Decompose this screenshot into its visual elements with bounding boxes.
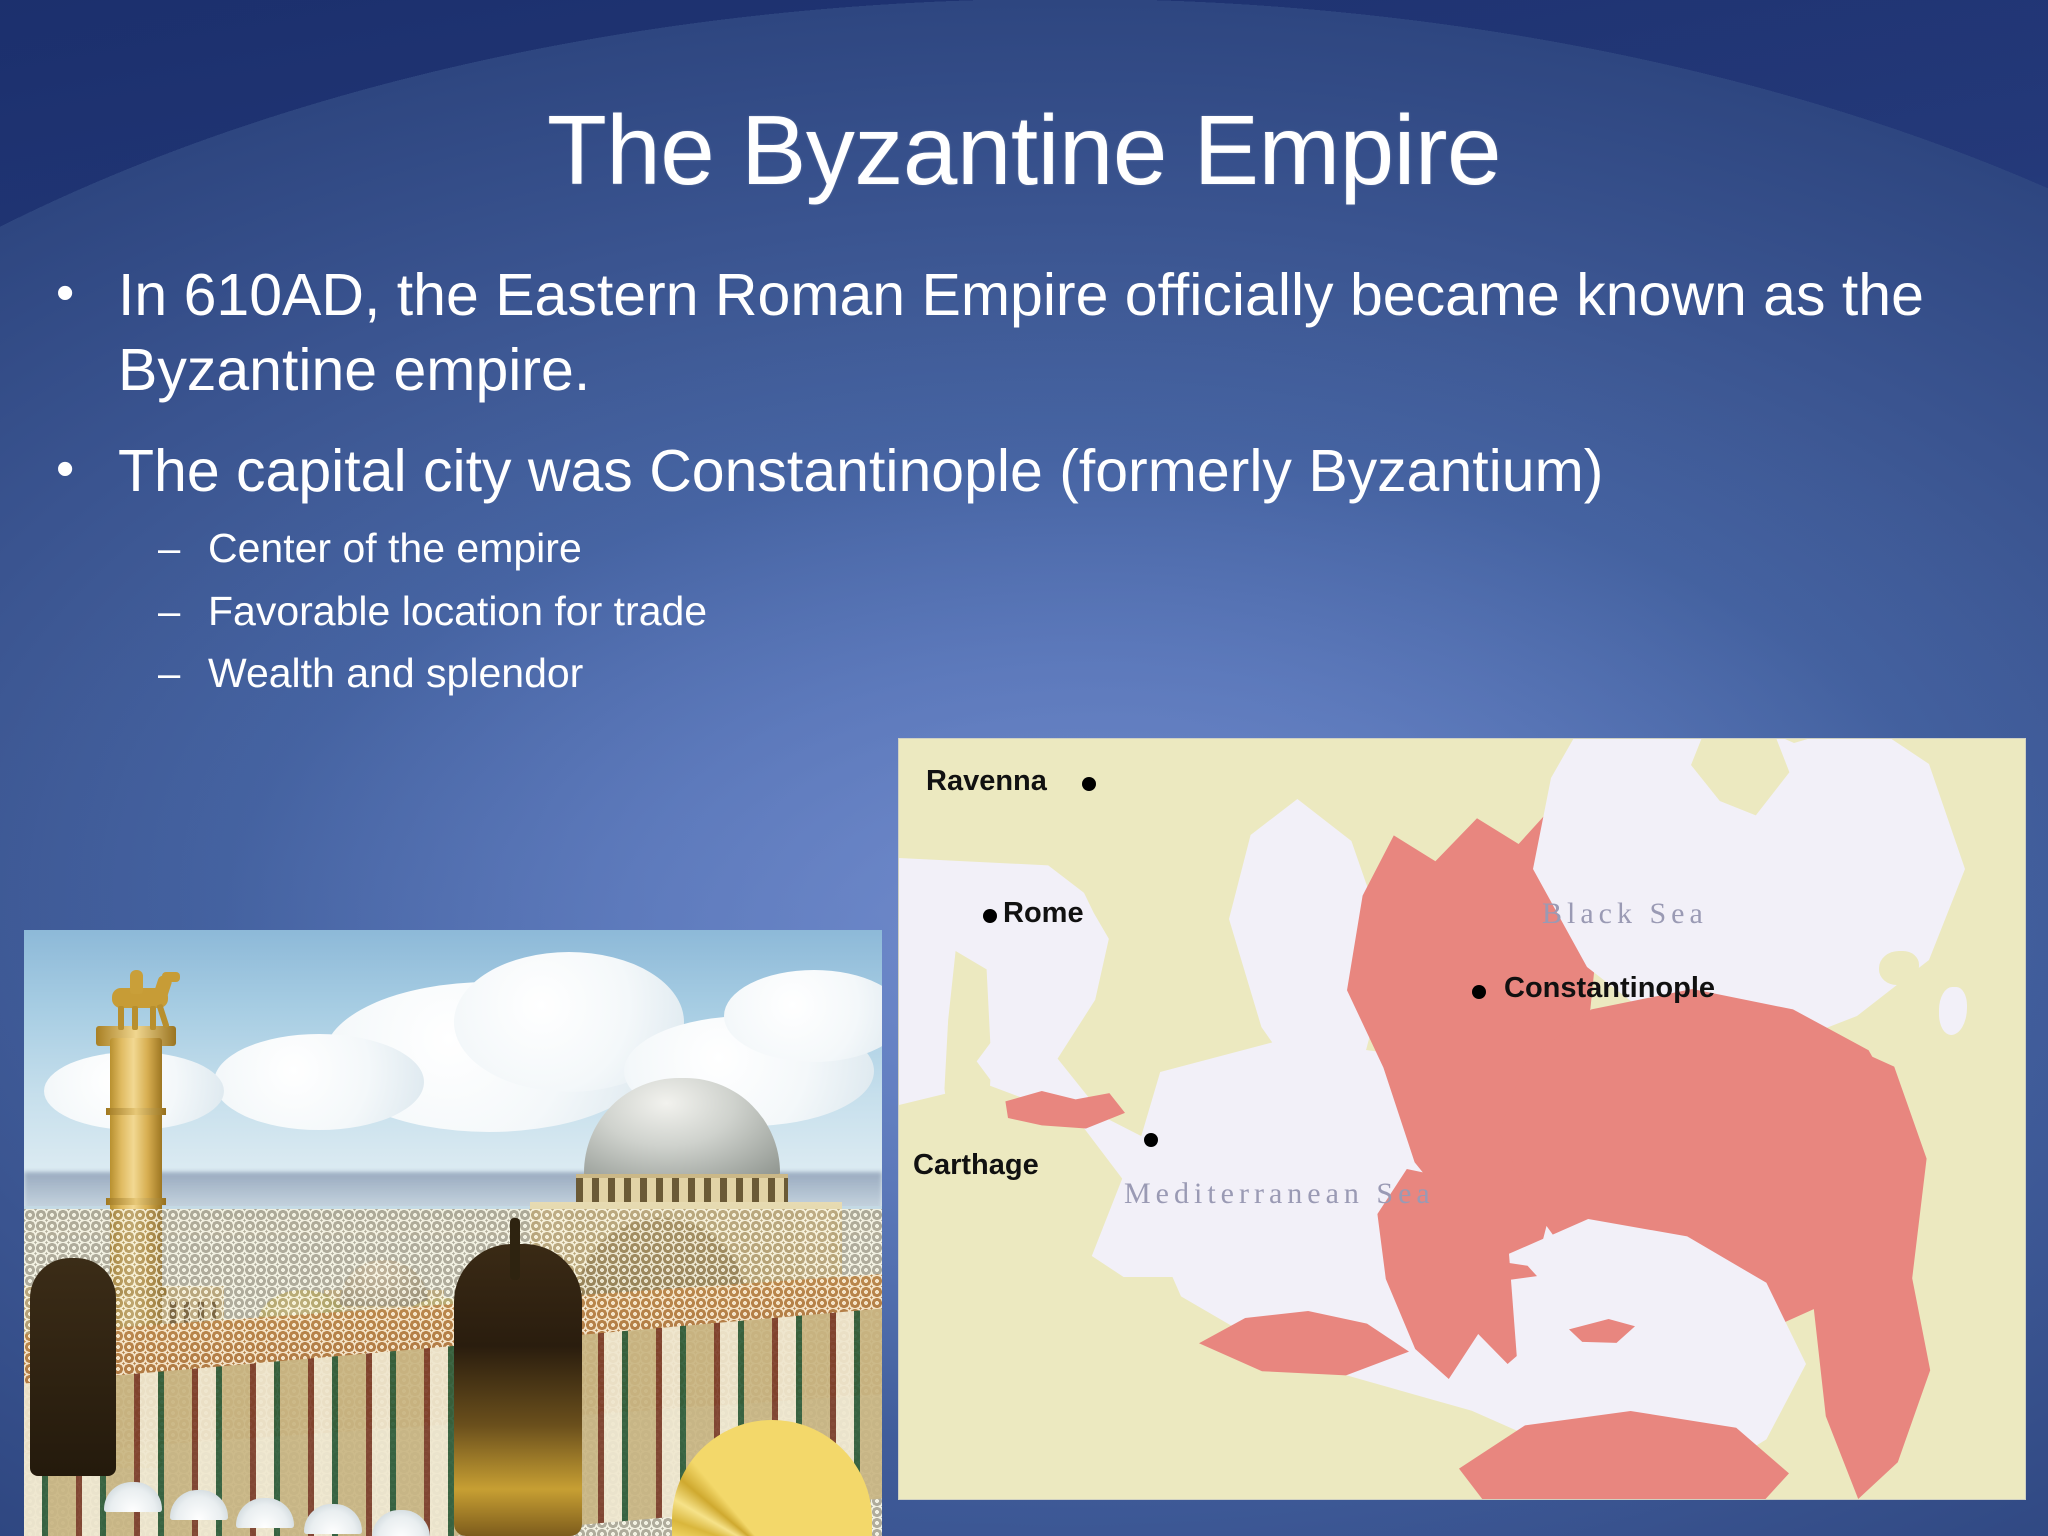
- constantinople-illustration: [24, 930, 882, 1536]
- island-shape: [1879, 951, 1919, 985]
- byzantine-empire-map: Ravenna Rome Carthage Constantinople Bla…: [898, 738, 2026, 1500]
- city-dot-rome: [983, 909, 997, 923]
- city-label-ravenna: Ravenna: [926, 765, 1047, 798]
- slide-canvas: The Byzantine Empire • In 610AD, the Eas…: [0, 0, 2048, 1536]
- page-title: The Byzantine Empire: [0, 96, 2048, 206]
- sub-bullet-item-1: – Center of the empire: [0, 517, 2048, 580]
- city-label-rome: Rome: [1003, 897, 1084, 930]
- sub-bullet-glyph: –: [158, 582, 208, 643]
- city-label-carthage: Carthage: [913, 1149, 1039, 1182]
- bullet-list: • In 610AD, the Eastern Roman Empire off…: [0, 258, 2048, 705]
- city-label-constantinople: Constantinople: [1504, 972, 1715, 1005]
- foreground-statue-left: [30, 1258, 116, 1476]
- bullet-text-1: In 610AD, the Eastern Roman Empire offic…: [118, 258, 2028, 408]
- foreground-robed-figure: [454, 1244, 582, 1536]
- bullet-glyph: •: [56, 258, 118, 328]
- city-dot-constantinople: [1472, 985, 1486, 999]
- city-dot-ravenna: [1082, 777, 1096, 791]
- bullet-text-2: The capital city was Constantinople (for…: [118, 434, 2028, 509]
- sub-bullet-item-3: – Wealth and splendor: [0, 642, 2048, 705]
- sub-bullet-glyph: –: [158, 519, 208, 580]
- sea-label-mediterranean-sea: Mediterranean Sea: [1124, 1177, 1435, 1211]
- bullet-item-2: • The capital city was Constantinople (f…: [0, 434, 2048, 509]
- sub-bullet-text-1: Center of the empire: [208, 517, 582, 579]
- island-shape: [1939, 987, 1967, 1035]
- sub-bullet-text-3: Wealth and splendor: [208, 642, 583, 704]
- sub-bullet-glyph: –: [158, 644, 208, 705]
- bullet-item-1: • In 610AD, the Eastern Roman Empire off…: [0, 258, 2048, 408]
- equestrian-statue: [98, 974, 182, 1030]
- bullet-glyph: •: [56, 434, 118, 504]
- city-dot-carthage: [1144, 1133, 1158, 1147]
- sub-bullet-text-2: Favorable location for trade: [208, 580, 707, 642]
- sub-bullet-item-2: – Favorable location for trade: [0, 580, 2048, 643]
- cloud-shape: [214, 1034, 424, 1130]
- sea-label-black-sea: Black Sea: [1542, 897, 1708, 931]
